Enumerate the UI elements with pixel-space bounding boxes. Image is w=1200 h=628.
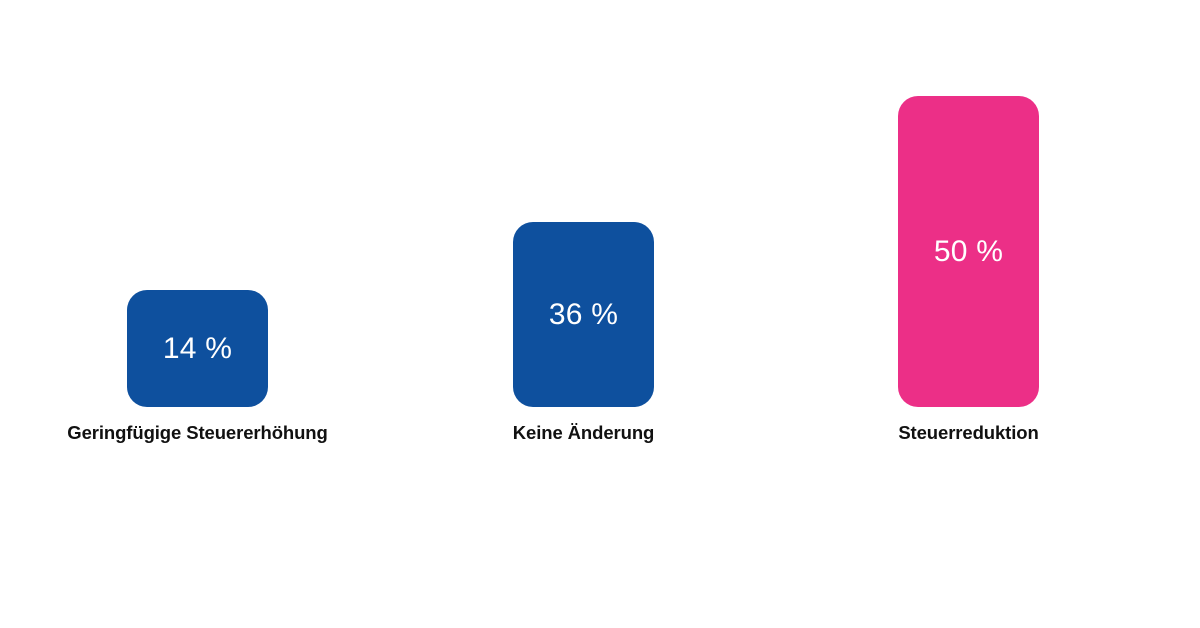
bar[interactable]: 50 % xyxy=(898,96,1039,407)
bar-value-label: 50 % xyxy=(898,237,1039,267)
bar-category-label: Steuerreduktion xyxy=(898,424,1038,443)
plot-area: 14 % Geringfügige Steuererhöhung 36 % Ke… xyxy=(0,0,1200,628)
bar-chart: 14 % Geringfügige Steuererhöhung 36 % Ke… xyxy=(0,0,1200,628)
bar-group: 14 % Geringfügige Steuererhöhung xyxy=(127,290,268,407)
bar-group: 36 % Keine Änderung xyxy=(513,222,654,407)
bar-category-label: Geringfügige Steuererhöhung xyxy=(67,424,327,443)
bar[interactable]: 14 % xyxy=(127,290,268,407)
bar-value-label: 36 % xyxy=(513,300,654,330)
bar-value-label: 14 % xyxy=(127,334,268,364)
bar-category-label: Keine Änderung xyxy=(513,424,654,443)
bar[interactable]: 36 % xyxy=(513,222,654,407)
bar-group: 50 % Steuerreduktion xyxy=(898,96,1039,407)
